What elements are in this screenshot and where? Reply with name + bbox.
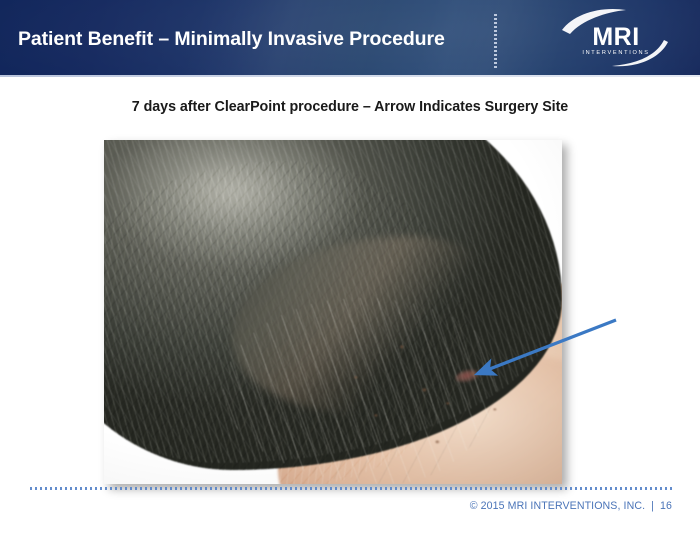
photo-mole	[446, 402, 450, 405]
header-underline-rule	[0, 75, 700, 77]
photo-mole	[435, 440, 440, 444]
footer-separator: |	[645, 500, 660, 512]
patient-photo-frame	[104, 140, 562, 484]
patient-photo-image	[104, 140, 562, 484]
mri-interventions-logo: MRI INTERVENTIONS	[556, 8, 676, 70]
photo-mole	[493, 408, 497, 411]
slide-canvas: Patient Benefit – Minimally Invasive Pro…	[0, 0, 700, 533]
photo-mole	[374, 414, 378, 417]
logo-tagline: INTERVENTIONS	[582, 50, 649, 56]
page-title: Patient Benefit – Minimally Invasive Pro…	[18, 25, 478, 53]
photo-mole	[470, 372, 475, 376]
footer-copyright-text: © 2015 MRI INTERVENTIONS, INC.	[470, 500, 645, 512]
logo-wordmark: MRI	[592, 23, 639, 51]
footer-page-number: 16	[660, 500, 672, 512]
photo-mole	[422, 388, 427, 392]
slide-subtitle: 7 days after ClearPoint procedure – Arro…	[0, 99, 700, 115]
footer-copyright: © 2015 MRI INTERVENTIONS, INC.|16	[470, 500, 672, 512]
photo-mole	[400, 345, 404, 349]
dotted-vertical-divider-icon	[494, 14, 497, 69]
footer-dotted-rule	[30, 487, 672, 490]
photo-mole	[354, 376, 358, 379]
